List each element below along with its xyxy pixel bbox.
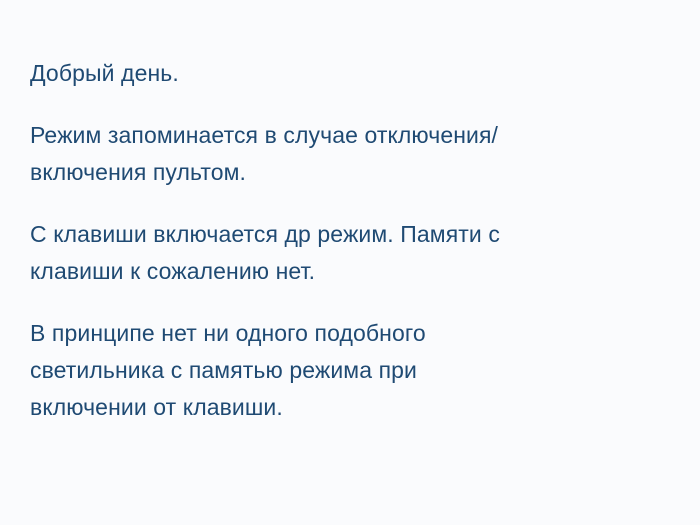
message-paragraph-switch-behavior: С клавиши включается др режим. Памяти с … (30, 216, 670, 290)
message-paragraph-greeting: Добрый день. (30, 55, 670, 92)
message-paragraph-mode-memory-remote: Режим запоминается в случае отключения/ … (30, 117, 670, 191)
message-body: Добрый день. Режим запоминается в случае… (0, 0, 700, 525)
message-paragraph-no-such-fixture: В принципе нет ни одного подобного свети… (30, 315, 670, 426)
